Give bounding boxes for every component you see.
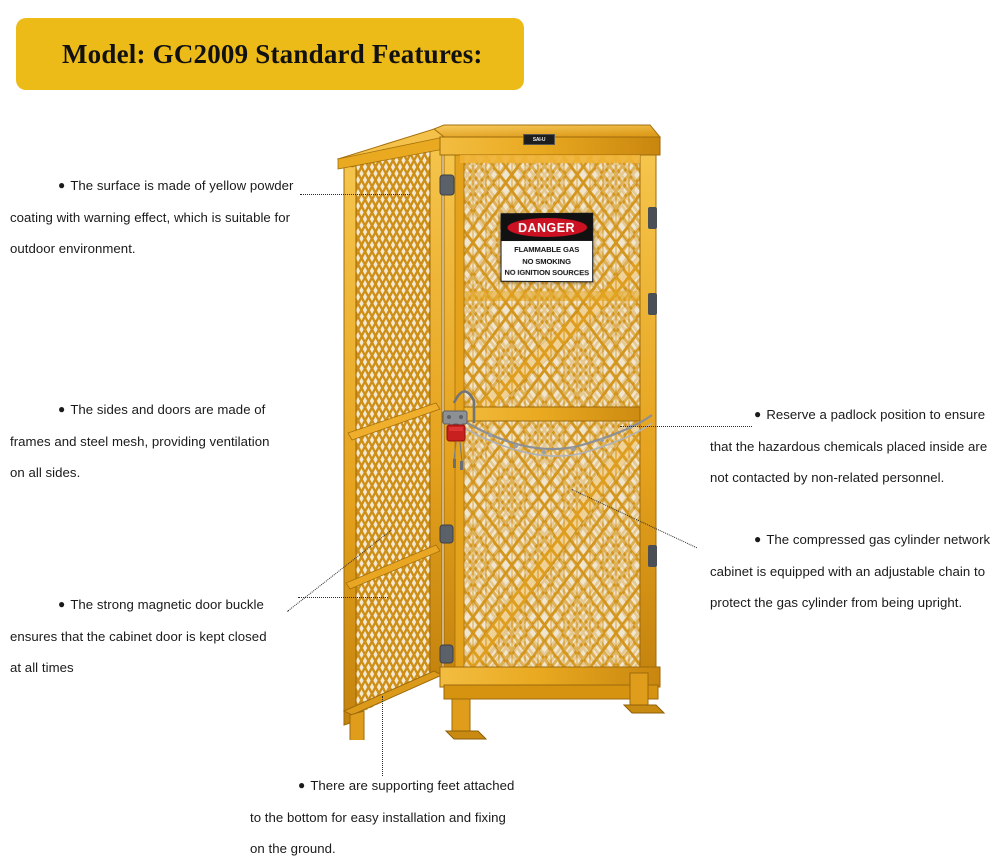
feature-sides-line2: frames and steel mesh, providing ventila… [10,426,310,457]
feature-surface-line2: coating with warning effect, which is su… [10,202,320,233]
feature-mesh-sides: ●The sides and doors are made of frames … [10,394,310,488]
danger-heading: DANGER [518,220,575,234]
product-illustration [330,115,670,740]
bullet-icon: ● [58,178,70,192]
nameplate-label: SAI-U [533,136,546,142]
feature-surface-line1: The surface is made of yellow powder [70,178,293,193]
bullet-icon: ● [298,778,310,792]
bullet-icon: ● [754,532,766,546]
feature-magnet-line1: The strong magnetic door buckle [70,597,264,612]
feature-magnet-line2: ensures that the cabinet door is kept cl… [10,621,310,652]
feature-padlock-position: ●Reserve a padlock position to ensure th… [710,399,1000,493]
feature-surface-coating: ●The surface is made of yellow powder co… [10,170,320,264]
title-banner: Model: GC2009 Standard Features: [16,18,524,90]
danger-line-2: NO SMOKING [502,255,593,267]
bullet-icon: ● [58,402,70,416]
feature-magnet-line3: at all times [10,652,310,683]
feature-padlock-line1: Reserve a padlock position to ensure [766,407,985,422]
feature-feet-line1: There are supporting feet attached [310,778,514,793]
feature-feet-line2: to the bottom for easy installation and … [250,802,550,833]
feature-padlock-line2: that the hazardous chemicals placed insi… [710,431,1000,462]
danger-placard: DANGER FLAMMABLE GAS NO SMOKING NO IGNIT… [501,213,594,283]
cabinet-drawing [330,115,670,740]
danger-message: FLAMMABLE GAS NO SMOKING NO IGNITION SOU… [502,241,593,279]
feature-surface-line3: outdoor environment. [10,233,320,264]
danger-oval: DANGER [507,218,587,237]
feature-adjustable-chain: ●The compressed gas cylinder network cab… [710,524,1000,618]
feature-chain-line1: The compressed gas cylinder network [766,532,990,547]
danger-line-3: NO IGNITION SOURCES [502,267,593,279]
danger-line-1: FLAMMABLE GAS [502,244,593,256]
feature-chain-line2: cabinet is equipped with an adjustable c… [710,556,1000,587]
bullet-icon: ● [754,407,766,421]
danger-header: DANGER [502,214,593,241]
feature-padlock-line3: not contacted by non-related personnel. [710,462,1000,493]
brand-nameplate: SAI-U [523,134,555,145]
cabinet-side-panel [344,131,442,740]
feature-feet-line3: on the ground. [250,833,550,864]
bullet-icon: ● [58,597,70,611]
feature-sides-line1: The sides and doors are made of [70,402,265,417]
page-title: Model: GC2009 Standard Features: [16,39,483,70]
feature-sides-line3: on all sides. [10,457,310,488]
feature-magnetic-buckle: ●The strong magnetic door buckle ensures… [10,589,310,683]
feature-chain-line3: protect the gas cylinder from being upri… [710,587,1000,618]
feature-supporting-feet: ●There are supporting feet attached to t… [250,770,550,864]
